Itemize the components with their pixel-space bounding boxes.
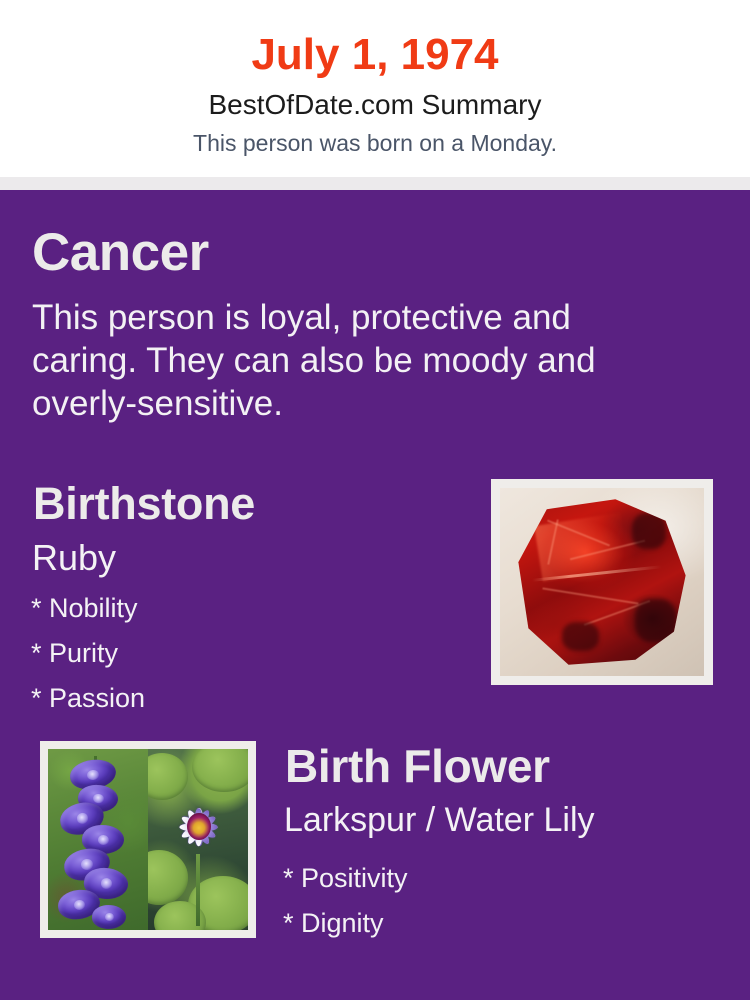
birth-flower-heading: Birth Flower <box>285 738 550 794</box>
ruby-shadow-patch <box>635 599 675 642</box>
ruby-photo <box>500 488 704 676</box>
zodiac-sign-heading: Cancer <box>32 222 209 284</box>
larkspur-bloom-center <box>81 858 94 870</box>
list-item: * Nobility <box>31 586 145 631</box>
larkspur-bloom <box>91 903 127 929</box>
birth-flower-name: Larkspur / Water Lily <box>284 799 595 841</box>
birth-flower-trait-list: * Positivity * Dignity <box>283 856 408 946</box>
water-lily-bloom <box>164 785 234 865</box>
list-item: * Purity <box>31 631 145 676</box>
card-header: July 1, 1974 BestOfDate.com Summary This… <box>0 0 750 177</box>
ruby-shadow-patch <box>562 622 599 652</box>
larkspur-bloom-center <box>100 878 113 890</box>
larkspur-bloom-center <box>105 912 114 921</box>
larkspur-bloom-center <box>74 900 86 911</box>
larkspur-bloom-center <box>93 794 104 804</box>
birthstone-image-frame <box>491 479 713 685</box>
larkspur-photo-half <box>48 749 148 930</box>
list-item: * Positivity <box>283 856 408 901</box>
ruby-facet-line <box>542 588 638 605</box>
site-name-subtitle: BestOfDate.com Summary <box>0 87 750 123</box>
page-title-date: July 1, 1974 <box>0 26 750 84</box>
header-divider <box>0 177 750 190</box>
larkspur-bloom-center <box>87 769 100 780</box>
list-item: * Dignity <box>283 901 408 946</box>
larkspur-bloom-center <box>76 813 89 825</box>
birth-flower-image-frame <box>40 741 256 938</box>
ruby-shadow-patch <box>632 513 665 549</box>
summary-card: July 1, 1974 BestOfDate.com Summary This… <box>0 0 750 1000</box>
born-weekday-note: This person was born on a Monday. <box>0 128 750 158</box>
zodiac-description: This person is loyal, protective and car… <box>32 296 652 425</box>
birthstone-trait-list: * Nobility * Purity * Passion <box>31 586 145 721</box>
birthstone-name: Ruby <box>32 536 116 580</box>
ruby-gem-shape <box>518 499 685 664</box>
lily-center <box>187 813 211 840</box>
list-item: * Passion <box>31 676 145 721</box>
ruby-facet-line <box>547 519 559 565</box>
water-lily-stem <box>196 854 200 926</box>
birthstone-heading: Birthstone <box>33 477 255 531</box>
water-lily-photo-half <box>148 749 248 930</box>
larkspur-bloom-center <box>98 834 110 845</box>
birth-flower-photo <box>48 749 248 930</box>
